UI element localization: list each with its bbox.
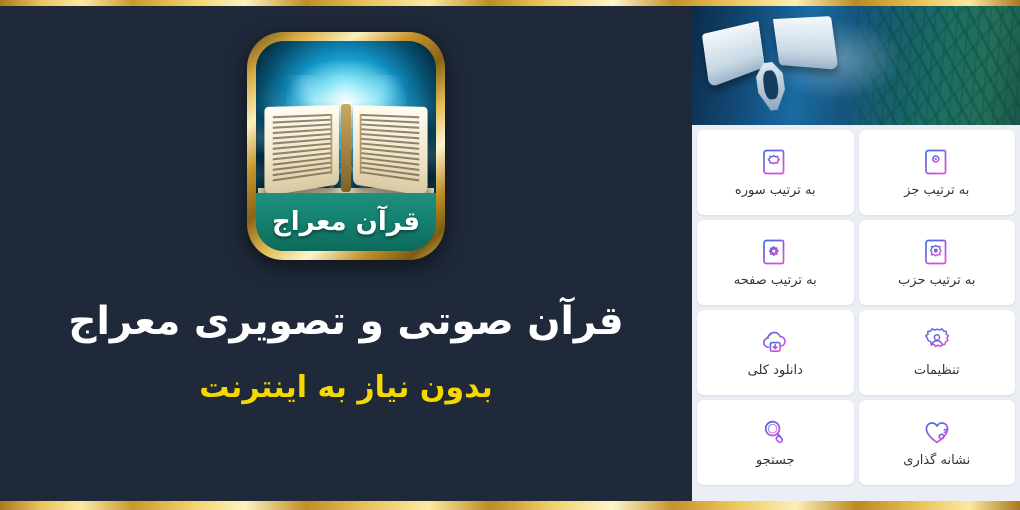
book-spine bbox=[341, 104, 351, 192]
menu-item-label: تنظیمات bbox=[914, 364, 960, 378]
menu-item-label: نشانه گذاری bbox=[903, 454, 970, 468]
book-text-lines bbox=[360, 114, 419, 183]
app-screenshot-panel: به ترتیب جز به ترتیب سوره bbox=[692, 6, 1020, 501]
book-juz-icon bbox=[921, 146, 953, 178]
cloud-download-icon bbox=[759, 326, 791, 358]
banner-book-left-page bbox=[702, 21, 765, 88]
top-gold-bar bbox=[0, 0, 1020, 6]
promo-headline: قرآن صوتی و تصویری معراج bbox=[68, 298, 623, 347]
quran-on-stand-icon bbox=[701, 13, 844, 117]
gear-user-icon bbox=[921, 326, 953, 358]
book-right-page bbox=[353, 105, 427, 196]
open-quran-illustration bbox=[262, 102, 430, 198]
menu-item-label: به ترتیب سوره bbox=[735, 184, 816, 198]
app-icon-gold-frame: قرآن معراج bbox=[247, 32, 445, 260]
promo-subheadline: بدون نیاز به اینترنت bbox=[199, 369, 492, 407]
menu-item-by-hizb[interactable]: به ترتیب حزب bbox=[859, 220, 1016, 305]
menu-item-label: به ترتیب صفحه bbox=[734, 274, 817, 288]
menu-item-by-juz[interactable]: به ترتیب جز bbox=[859, 130, 1016, 215]
app-header-banner bbox=[692, 6, 1020, 125]
menu-item-label: به ترتیب جز bbox=[904, 184, 969, 198]
menu-item-label: جستجو bbox=[756, 454, 795, 468]
book-hizb-icon bbox=[921, 236, 953, 268]
book-surah-icon bbox=[759, 146, 791, 178]
app-icon-title-band: قرآن معراج bbox=[256, 193, 436, 251]
book-text-lines bbox=[273, 114, 332, 183]
menu-item-by-page[interactable]: به ترتیب صفحه bbox=[697, 220, 854, 305]
promo-banner: قرآن معراج قرآن صوتی و تصویری معراج بدون… bbox=[0, 0, 1020, 510]
app-menu-grid: به ترتیب جز به ترتیب سوره bbox=[692, 125, 1020, 490]
heart-music-icon bbox=[921, 416, 953, 448]
menu-item-by-surah[interactable]: به ترتیب سوره bbox=[697, 130, 854, 215]
banner-book-right-page bbox=[773, 16, 839, 70]
menu-item-bookmarks[interactable]: نشانه گذاری bbox=[859, 400, 1016, 485]
book-page-icon bbox=[759, 236, 791, 268]
menu-item-search[interactable]: جستجو bbox=[697, 400, 854, 485]
app-icon: قرآن معراج bbox=[247, 32, 445, 260]
app-icon-artwork: قرآن معراج bbox=[256, 41, 436, 251]
book-left-page bbox=[264, 105, 338, 196]
search-icon bbox=[759, 416, 791, 448]
menu-item-label: دانلود کلی bbox=[748, 364, 803, 378]
menu-item-download-all[interactable]: دانلود کلی bbox=[697, 310, 854, 395]
menu-item-label: به ترتیب حزب bbox=[898, 274, 975, 288]
left-promo-panel: قرآن معراج قرآن صوتی و تصویری معراج بدون… bbox=[0, 6, 692, 501]
bottom-gold-bar bbox=[0, 501, 1020, 510]
menu-item-settings[interactable]: تنظیمات bbox=[859, 310, 1016, 395]
app-icon-title: قرآن معراج bbox=[272, 207, 420, 237]
